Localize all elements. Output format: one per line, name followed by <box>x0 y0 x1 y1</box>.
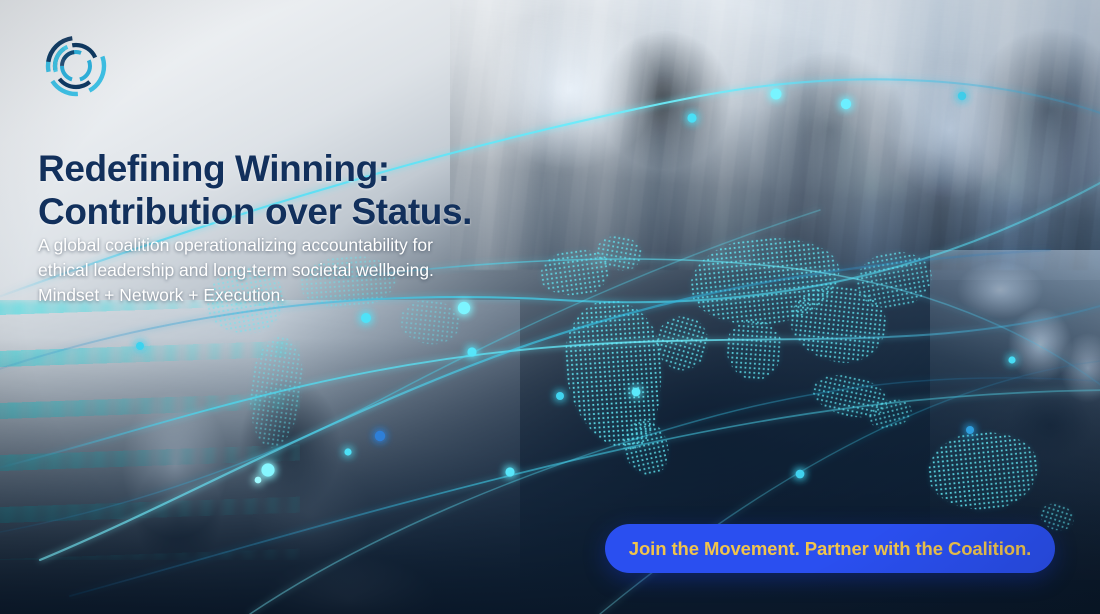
coalition-rings-logo-icon <box>42 32 110 100</box>
map-landmass <box>724 318 784 382</box>
headline-line-1: Redefining Winning: <box>38 148 390 189</box>
subheadline-line-2: ethical leadership and long-term societa… <box>38 258 558 283</box>
subheadline-line-1: A global coalition operationalizing acco… <box>38 233 558 258</box>
subheadline-line-3: Mindset + Network + Execution. <box>38 283 558 308</box>
subheadline: A global coalition operationalizing acco… <box>38 233 558 309</box>
map-landmass <box>924 426 1042 515</box>
map-landmass <box>242 333 309 451</box>
join-movement-cta-button[interactable]: Join the Movement. Partner with the Coal… <box>605 524 1055 573</box>
headline-line-2: Contribution over Status. <box>38 190 598 233</box>
page-title: Redefining Winning: Contribution over St… <box>38 147 598 234</box>
hero-banner: Redefining Winning: Contribution over St… <box>0 0 1100 614</box>
